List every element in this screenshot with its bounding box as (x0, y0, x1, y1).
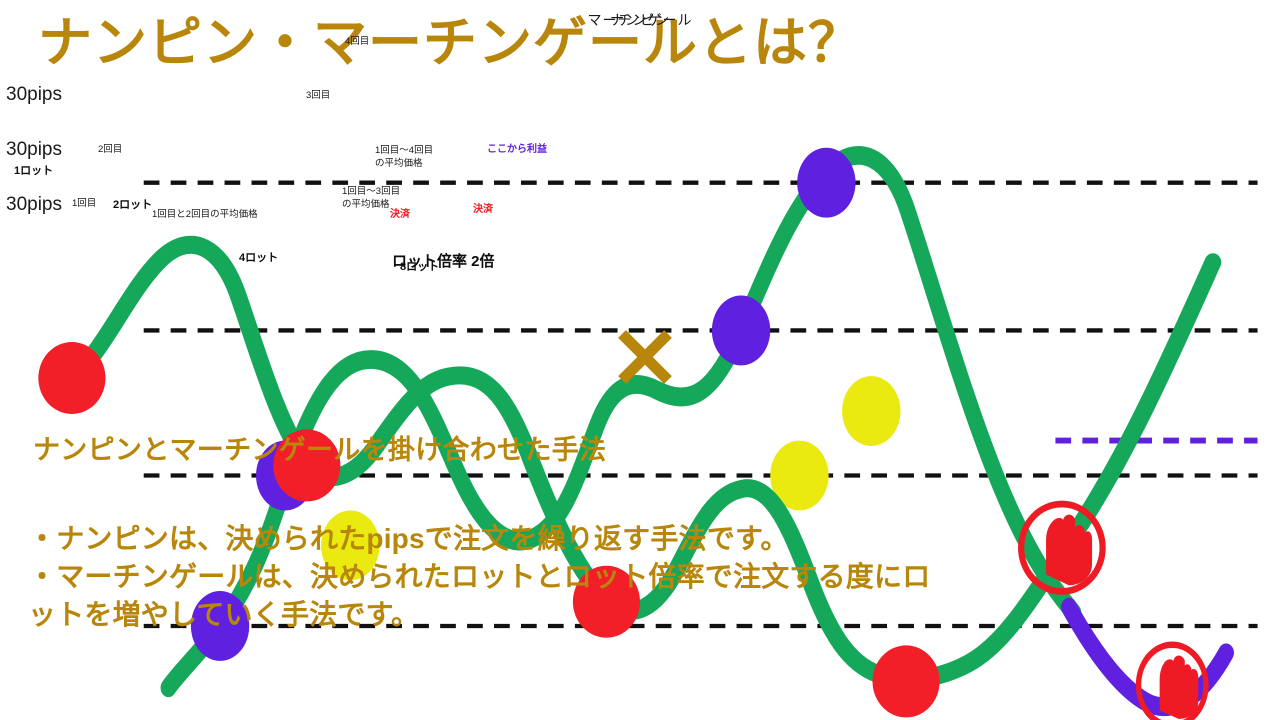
lot-label-2: 2ロット (113, 196, 152, 212)
subtitle: ナンピンとマーチンゲールを掛け合わせた手法 (33, 428, 606, 467)
lot-label-1: 1ロット (14, 162, 53, 178)
martingale-chart-panel: マーチンゲール 1ロット 2ロット 4ロット 8ロット 決済 ロット倍率 2倍 (0, 268, 534, 548)
entry-dot-8lot (873, 645, 940, 717)
body-line-2: ・マーチンゲールは、決められたロットとロット倍率で注文する度にロ (28, 558, 1263, 596)
lot-label-4: 4ロット (239, 249, 278, 265)
settle-label-martingale: 決済 (390, 205, 410, 220)
lot-multiplier-label: ロット倍率 2倍 (392, 250, 495, 271)
body-line-1: ・ナンピンは、決められたpipsで注文を繰り返す手法です。 (28, 520, 1263, 558)
body-line-3: ットを増やしていく手法です。 (28, 596, 1263, 634)
entry-dot-1lot (38, 342, 105, 414)
body-copy: ・ナンピンは、決められたpipsで注文を繰り返す手法です。 ・マーチンゲールは、… (28, 520, 1263, 634)
